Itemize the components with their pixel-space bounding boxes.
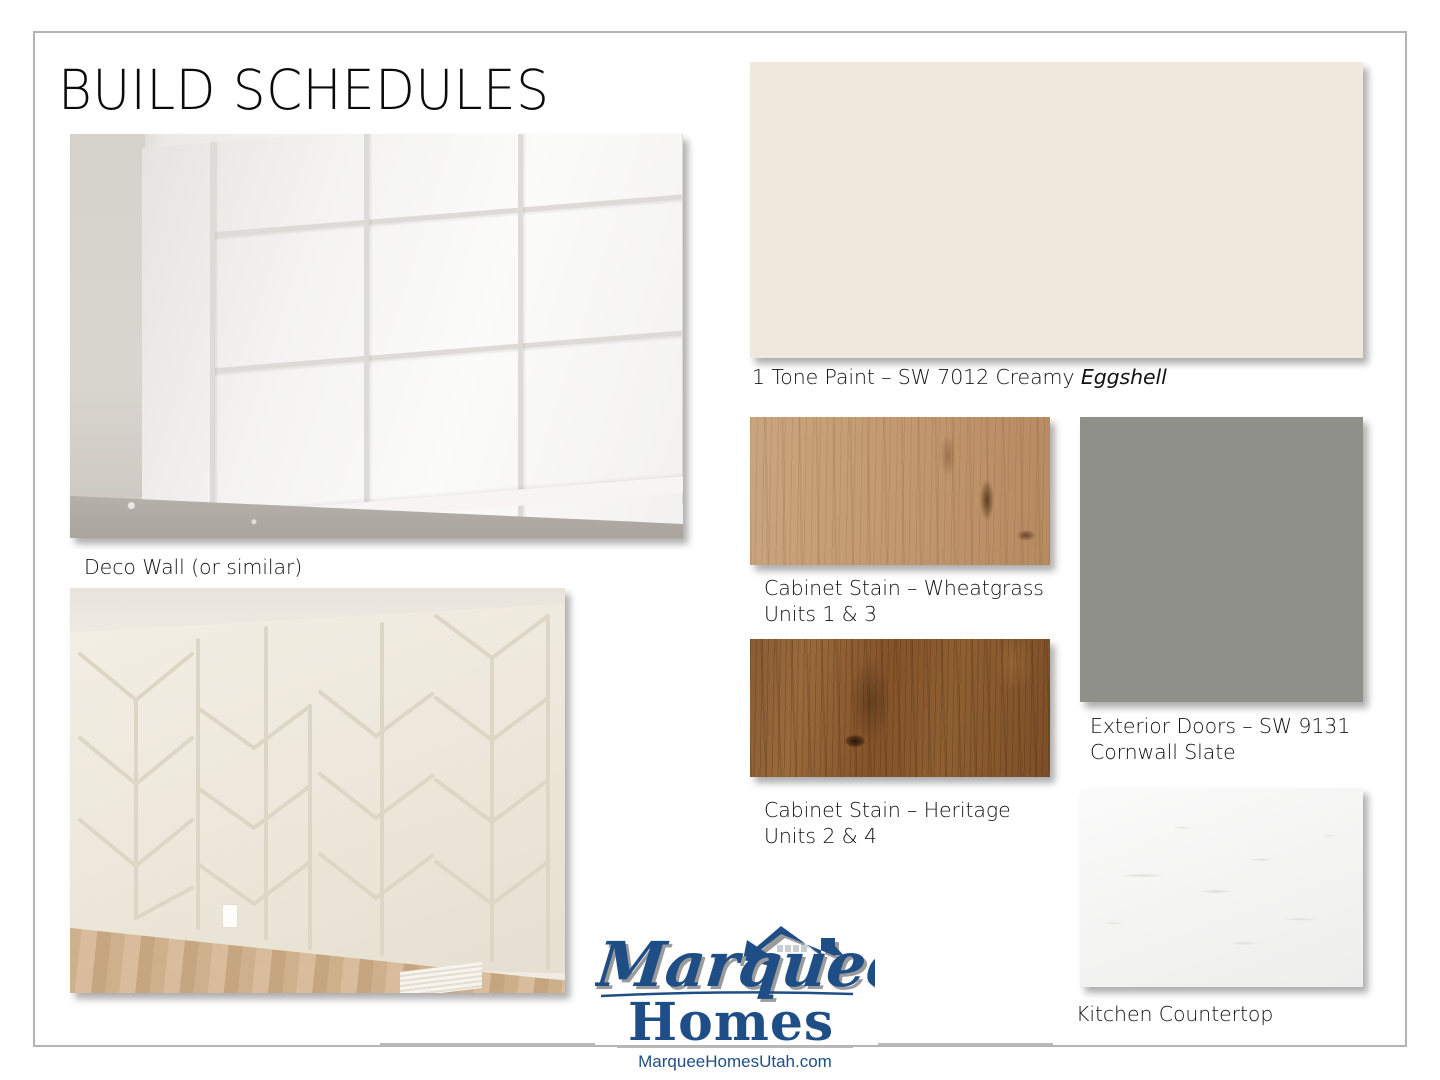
batten-vertical <box>210 142 215 538</box>
batten-horizontal <box>210 194 683 238</box>
marquee-homes-logo-svg: Marquee Marquee Homes MarqueeHomesUtah.c… <box>595 908 875 1073</box>
swatch-slate-cornwall <box>1080 417 1363 702</box>
logo-divider-left <box>380 1043 595 1045</box>
caption-kitchen-countertop: Kitchen Countertop <box>1076 1001 1273 1027</box>
caption-stain-wheatgrass: Cabinet Stain – Wheatgrass Units 1 & 3 <box>764 575 1044 627</box>
swatch-kitchen-countertop <box>1080 788 1363 987</box>
logo-serif-word: Homes <box>628 992 834 1053</box>
photo-deco-wall-chevron <box>70 588 565 993</box>
wood-grain-texture <box>750 417 1050 565</box>
quartz-veining-texture <box>1080 788 1363 987</box>
swatch-stain-heritage <box>750 639 1050 777</box>
panel-wall <box>142 134 683 538</box>
caption-stain-heritage: Cabinet Stain – Heritage Units 2 & 4 <box>764 797 1011 849</box>
swatch-paint-creamy <box>750 62 1363 358</box>
side-wall <box>70 134 145 538</box>
logo-divider-right <box>878 1043 1053 1045</box>
logo-divider-center <box>617 1046 853 1048</box>
photo-deco-wall-grid <box>70 134 683 538</box>
caption-paint-text: 1 Tone Paint – SW 7012 Creamy <box>752 365 1081 389</box>
caption-paint-sheen: Eggshell <box>1081 365 1167 389</box>
logo-website: MarqueeHomesUtah.com <box>638 1052 832 1071</box>
batten-vertical <box>364 134 369 530</box>
batten-vertical <box>682 134 683 504</box>
page-title: BUILD SCHEDULES <box>58 58 549 122</box>
wood-grain-texture <box>750 639 1050 777</box>
logo-script-word: Marquee <box>595 928 875 1001</box>
caption-deco-wall: Deco Wall (or similar) <box>84 554 302 580</box>
batten-horizontal <box>210 330 683 374</box>
batten-vertical <box>518 134 523 518</box>
brand-logo: Marquee Marquee Homes MarqueeHomesUtah.c… <box>595 908 875 1073</box>
caption-paint-creamy: 1 Tone Paint – SW 7012 Creamy Eggshell <box>752 364 1167 390</box>
wall-outlet <box>222 904 238 928</box>
chevron-trim-pattern <box>70 588 565 993</box>
caption-slate-cornwall: Exterior Doors – SW 9131 Cornwall Slate <box>1090 713 1350 765</box>
swatch-stain-wheatgrass <box>750 417 1050 565</box>
